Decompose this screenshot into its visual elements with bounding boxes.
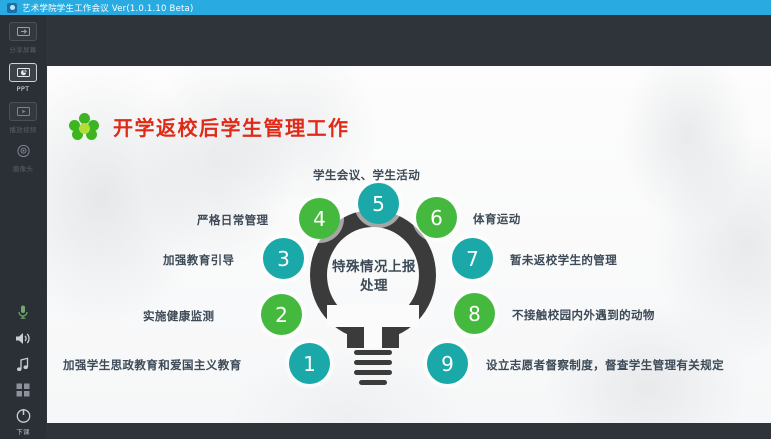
left-toolbar: 分享屏幕 PPT 播放视频	[0, 15, 46, 439]
sidebar-item-play-video[interactable]: 播放视频	[0, 102, 46, 134]
application-window: 艺术学院学生工作会议 Ver(1.0.1.10 Beta) 分享屏幕 PPT	[0, 0, 771, 439]
slide-canvas[interactable]: 开学返校后学生管理工作 特殊情况上报处理 1 2 3 4 5 6 7 8 9	[47, 66, 771, 423]
clover-flower-icon	[69, 113, 99, 143]
step-circle-5[interactable]: 5	[358, 183, 399, 224]
step-circle-4[interactable]: 4	[299, 198, 340, 239]
sidebar-item-camera[interactable]: 摄像头	[0, 143, 46, 173]
step-number: 5	[372, 192, 385, 216]
speaker-icon	[15, 331, 32, 346]
camera-icon	[10, 143, 36, 160]
microphone-button[interactable]	[0, 299, 46, 325]
step-number: 6	[430, 206, 443, 230]
step-label-9: 设立志愿者督察制度，督查学生管理有关规定	[486, 357, 724, 373]
step-circle-7[interactable]: 7	[452, 238, 493, 279]
end-class-button[interactable]: 下课	[0, 403, 46, 439]
step-number: 1	[303, 352, 316, 376]
sidebar-item-ppt[interactable]: PPT	[0, 63, 46, 93]
ppt-icon	[9, 63, 37, 82]
step-circle-2[interactable]: 2	[261, 294, 302, 335]
power-end-icon	[15, 407, 32, 424]
sidebar-item-share-screen[interactable]: 分享屏幕	[0, 22, 46, 54]
sidebar-item-label: 摄像头	[13, 163, 33, 173]
step-number: 9	[441, 352, 454, 376]
step-label-4: 严格日常管理	[197, 212, 268, 228]
end-class-label: 下课	[16, 426, 30, 436]
ppt-glyph	[17, 68, 30, 77]
step-number: 7	[466, 247, 479, 271]
window-title: 艺术学院学生工作会议 Ver(1.0.1.10 Beta)	[22, 2, 193, 14]
step-circle-6[interactable]: 6	[416, 197, 457, 238]
step-label-3: 加强教育引导	[163, 252, 234, 268]
sidebar-item-label: 分享屏幕	[9, 44, 36, 54]
grid-squares-icon	[16, 383, 30, 397]
step-number: 2	[275, 303, 288, 327]
music-note-icon	[16, 357, 30, 372]
step-label-2: 实施健康监测	[143, 308, 214, 324]
sidebar-item-label: PPT	[17, 85, 30, 93]
step-number: 3	[277, 247, 290, 271]
step-label-7: 暂未返校学生的管理	[510, 252, 617, 268]
camera-glyph	[16, 144, 31, 159]
step-circle-9[interactable]: 9	[427, 343, 468, 384]
bulb-center-text: 特殊情况上报处理	[328, 258, 420, 296]
step-number: 4	[313, 207, 326, 231]
sidebar-item-label: 播放视频	[9, 124, 36, 134]
music-button[interactable]	[0, 351, 46, 377]
presentation-stage: 开学返校后学生管理工作 特殊情况上报处理 1 2 3 4 5 6 7 8 9	[46, 15, 771, 439]
step-circle-3[interactable]: 3	[263, 238, 304, 279]
page-title: 开学返校后学生管理工作	[113, 112, 350, 141]
share-screen-icon	[9, 22, 37, 41]
step-label-1: 加强学生思政教育和爱国主义教育	[63, 357, 242, 373]
step-circle-1[interactable]: 1	[289, 343, 330, 384]
step-label-5: 学生会议、学生活动	[313, 167, 420, 183]
play-video-glyph	[17, 107, 30, 116]
toolbar-bottom-group: 下课	[0, 299, 46, 439]
step-label-8: 不接触校园内外遇到的动物	[512, 307, 655, 323]
app-logo-icon	[7, 3, 17, 13]
speaker-button[interactable]	[0, 325, 46, 351]
step-number: 8	[468, 302, 481, 326]
step-circle-8[interactable]: 8	[454, 293, 495, 334]
title-bar: 艺术学院学生工作会议 Ver(1.0.1.10 Beta)	[0, 0, 771, 15]
play-video-icon	[9, 102, 37, 121]
grid-layout-button[interactable]	[0, 377, 46, 403]
step-label-6: 体育运动	[473, 211, 521, 227]
microphone-icon	[16, 304, 30, 320]
share-screen-glyph	[17, 27, 30, 36]
